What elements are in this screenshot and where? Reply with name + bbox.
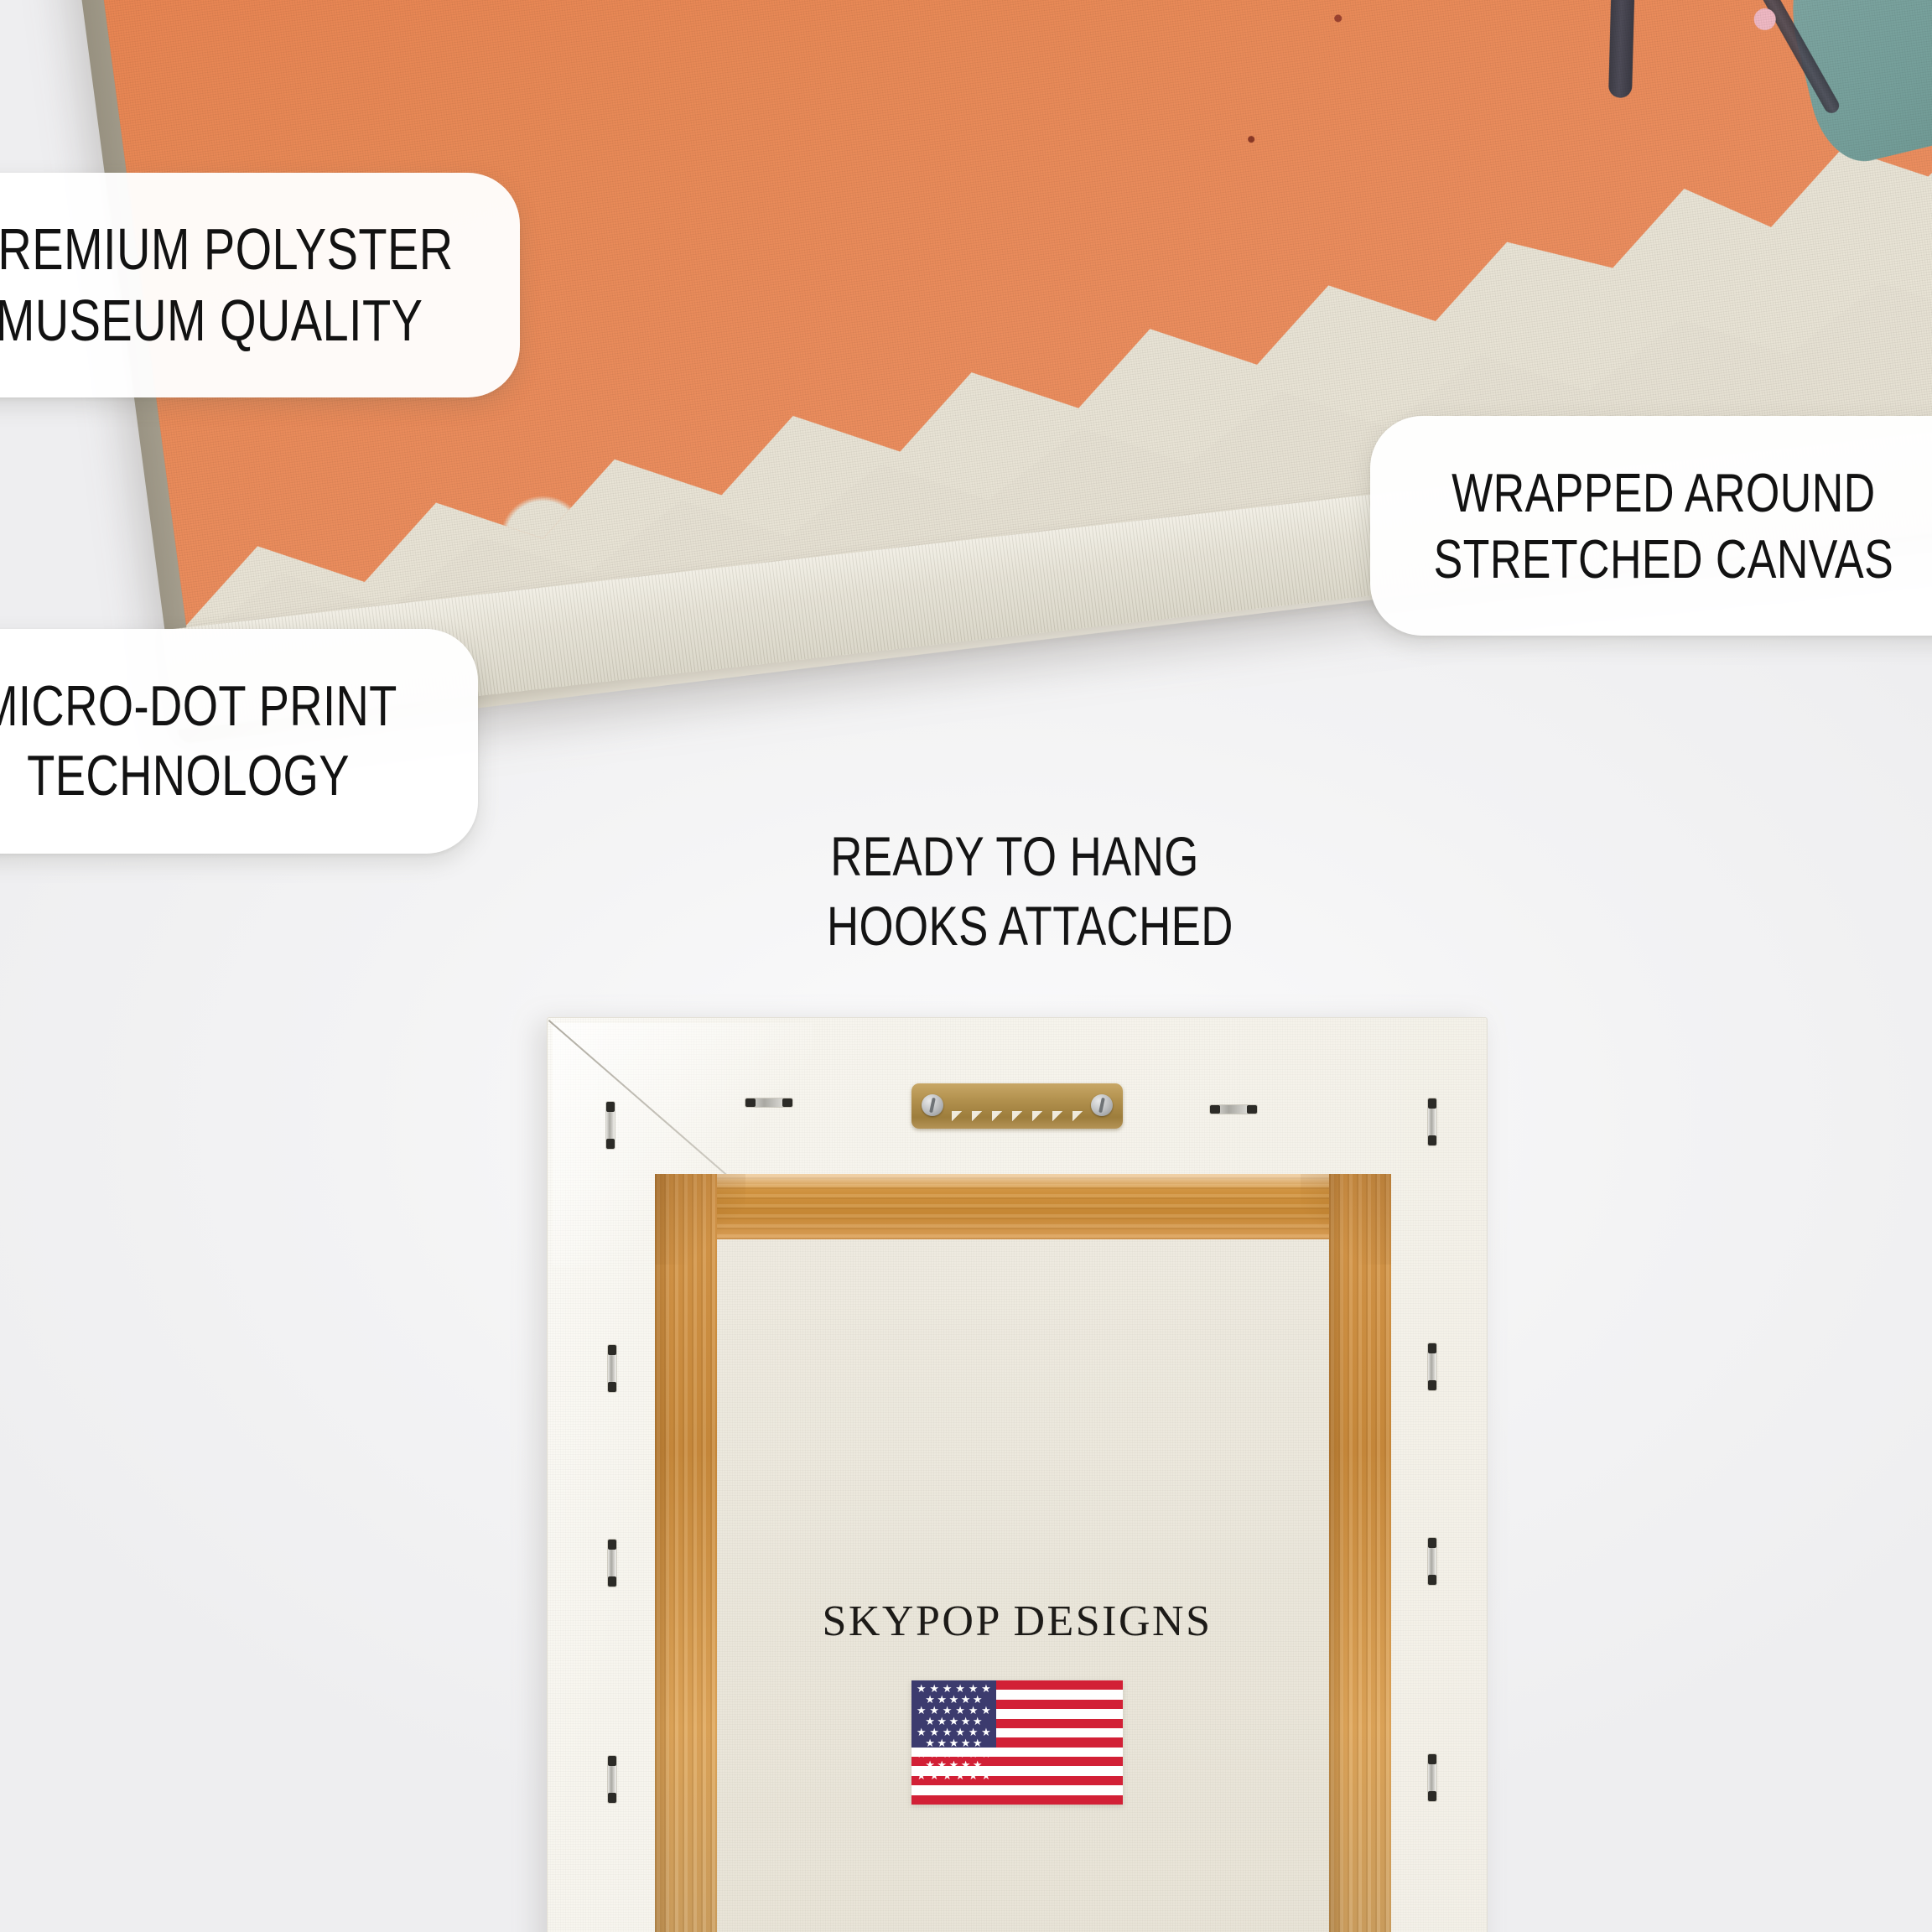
hanger-screw-left <box>922 1094 943 1116</box>
feature-premium-line2: MUSEUM QUALITY <box>0 285 423 356</box>
stretcher-bar-right <box>1329 1174 1391 1932</box>
flag-star: ★ <box>917 1770 927 1781</box>
stretcher-bar-left-shade <box>655 1174 717 1932</box>
staple <box>1428 1098 1436 1145</box>
staple <box>608 1540 616 1587</box>
hanger-screw-right <box>1091 1094 1113 1116</box>
feature-hang-line2: HOOKS ATTACHED <box>827 891 1202 961</box>
inner-canvas-grain <box>667 1184 1379 1932</box>
feature-micro-line1: MICRO-DOT PRINT <box>0 672 397 741</box>
hanger-sawtooth-teeth <box>952 1111 1083 1128</box>
sawtooth-hanger-icon <box>911 1083 1123 1129</box>
flag-stars: ★★★★★★★★★★★★★★★★★★★★★★★★★★★★★★★★★★★★★★★★… <box>911 1680 996 1748</box>
feature-hang-line1: READY TO HANG <box>827 822 1202 891</box>
feature-label-wrapped-around-stretched-canvas: WRAPPED AROUND STRETCHED CANVAS <box>1370 416 1932 636</box>
staple <box>1428 1343 1436 1390</box>
feature-wrapped-line1: WRAPPED AROUND <box>1452 460 1875 526</box>
staple <box>608 1756 616 1803</box>
feature-wrapped-line2: STRETCHED CANVAS <box>1434 526 1894 592</box>
feature-premium-line1: PREMIUM POLYSTER <box>0 214 454 285</box>
staple <box>608 1345 616 1392</box>
staple <box>606 1102 615 1149</box>
staple <box>1210 1105 1257 1114</box>
flag-star: ★ <box>943 1770 953 1781</box>
stretcher-mitre-left <box>655 1174 745 1265</box>
flag-star: ★ <box>981 1770 991 1781</box>
feature-micro-line2: TECHNOLOGY <box>28 741 351 811</box>
brand-wordmark: SKYPOP DESIGNS <box>548 1597 1487 1646</box>
stretcher-bar-left <box>655 1174 717 1932</box>
flag-star: ★ <box>981 1748 991 1759</box>
flag-star: ★ <box>969 1770 979 1781</box>
stretcher-bar-right-shade <box>1329 1174 1391 1932</box>
flag-stripe <box>911 1795 1123 1805</box>
flag-star: ★ <box>981 1683 991 1694</box>
stretcher-bar-top <box>655 1174 1391 1239</box>
feature-label-ready-to-hang: READY TO HANG HOOKS ATTACHED <box>780 822 1249 961</box>
flag-star-row: ★★★★★★ <box>915 1770 993 1781</box>
feature-label-micro-dot-print: MICRO-DOT PRINT TECHNOLOGY <box>0 629 478 854</box>
canvas-back-panel: SKYPOP DESIGNS ★★★★★★★★★★★★★★★★★★★★★★★★★… <box>547 1017 1488 1932</box>
staple <box>1428 1538 1436 1585</box>
product-infographic: PREMIUM POLYSTER MUSEUM QUALITY MICRO-DO… <box>0 0 1932 1932</box>
canvas-back-inner-field <box>667 1184 1379 1932</box>
flag-star: ★ <box>929 1770 939 1781</box>
flag-stripe <box>911 1785 1123 1794</box>
canvas-back-view: SKYPOP DESIGNS ★★★★★★★★★★★★★★★★★★★★★★★★★… <box>547 1017 1488 1932</box>
flag-star: ★ <box>981 1705 991 1716</box>
feature-label-premium-polyster: PREMIUM POLYSTER MUSEUM QUALITY <box>0 173 520 397</box>
flag-canton: ★★★★★★★★★★★★★★★★★★★★★★★★★★★★★★★★★★★★★★★★… <box>911 1680 996 1748</box>
flag-star: ★ <box>981 1727 991 1737</box>
united-states-flag-icon: ★★★★★★★★★★★★★★★★★★★★★★★★★★★★★★★★★★★★★★★★… <box>911 1680 1123 1805</box>
staple <box>1428 1754 1436 1801</box>
staple <box>745 1098 792 1107</box>
flag-star: ★ <box>955 1770 965 1781</box>
stretcher-bar-top-highlight <box>655 1174 1391 1239</box>
stretcher-mitre-right <box>1301 1174 1391 1265</box>
